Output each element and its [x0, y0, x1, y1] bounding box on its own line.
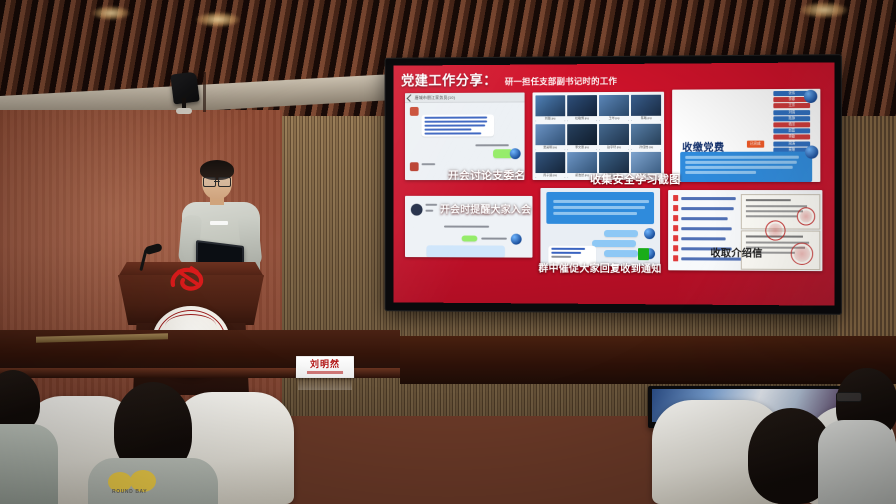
photo-thumbnail: 陈曦.jpg	[631, 95, 661, 121]
slide-panel-group-urge	[540, 188, 660, 266]
conference-room-photo: 党建工作分享： 研一担任支部副书记时的工作 唐城市朋江家务员(10) 开会讨论支…	[0, 0, 896, 504]
slide-panel-party-dues: 张伟 李娜 王芳 刘强 陈静 杨洋 赵磊 黄敏 周涛 吴琳 徐明 孙悦 收缴党费…	[672, 89, 820, 182]
presentation-slide: 党建工作分享： 研一担任支部副书记时的工作 唐城市朋江家务员(10) 开会讨论支…	[393, 62, 834, 305]
name-plate-reflection	[298, 378, 352, 390]
notice-avatar	[411, 204, 423, 216]
pdf-list-item	[673, 225, 732, 231]
ceiling-light-2	[196, 12, 240, 27]
dues-row: 刘强	[773, 110, 810, 115]
notice-meta	[481, 238, 507, 240]
dues-message-banner	[680, 152, 812, 182]
pdf-list-item	[673, 235, 725, 241]
group-bubble-3	[604, 250, 638, 257]
notice-bubble	[426, 245, 504, 257]
pdf-list-item	[673, 195, 736, 201]
dues-row: 赵磊	[773, 128, 810, 133]
pdf-list-item	[673, 215, 728, 221]
chat-meta-line	[475, 144, 508, 146]
slide-panel-chat-committee: 唐城市朋江家务员(10) 开会讨论支委名单	[405, 92, 525, 180]
slide-panel-photo-grid: 刘璐.jpg 杜敏博.jpg 王华.jpg 陈曦.jpg 吴昊明.jpg 李文豪…	[533, 92, 665, 180]
eyeglasses-icon	[203, 177, 231, 185]
slide-title-row: 党建工作分享： 研一担任支部副书记时的工作	[401, 69, 820, 90]
photo-thumbnail: 吴昊明.jpg	[535, 124, 564, 150]
pdf-file-icon	[673, 225, 678, 231]
globe-avatar-icon	[510, 148, 521, 159]
shirt-graphic	[108, 470, 164, 500]
dues-row: 黄敏	[773, 135, 810, 140]
group-bubble-1	[604, 230, 638, 237]
pdf-file-icon	[673, 215, 678, 221]
photo-thumbnail: 王华.jpg	[599, 95, 629, 121]
file-type-icon	[638, 248, 649, 260]
ceiling-light-1	[92, 6, 130, 20]
globe-avatar-icon	[804, 90, 817, 103]
notice-sender	[425, 204, 437, 206]
official-seal-icon	[797, 207, 815, 225]
chat-sender-name	[422, 163, 436, 165]
cable-conduit	[203, 72, 206, 112]
dues-status-badge: 已完成	[747, 141, 764, 148]
panel-caption-chat: 开会讨论支委名单	[448, 167, 525, 180]
photo-thumbnail: 赵宇轩.jpg	[599, 123, 629, 149]
cpc-hammer-sickle-icon	[165, 265, 209, 293]
slide-panel-intro-letters: 收取介绍信	[668, 190, 822, 271]
panel-caption-photo-grid: 收集安全学习截图	[590, 171, 681, 187]
globe-avatar-icon	[511, 234, 522, 245]
notice-sender-2	[425, 210, 433, 212]
globe-avatar-icon	[644, 228, 655, 239]
shirt-graphic-text: ROUND BAY	[112, 489, 147, 495]
chat-avatar	[410, 107, 419, 116]
official-seal-icon	[791, 243, 813, 265]
audience-member-far-right-shirt	[818, 420, 896, 504]
pdf-file-icon	[673, 235, 678, 241]
panel-caption-intro-letters: 收取介绍信	[710, 244, 762, 259]
group-bubble-2	[592, 240, 636, 247]
name-plate-underline	[307, 371, 343, 374]
audience-eyeglasses-icon	[836, 392, 862, 402]
chat-avatar-2	[410, 162, 419, 171]
pdf-file-icon	[673, 245, 678, 251]
pdf-file-icon	[673, 255, 678, 261]
slide-title: 党建工作分享：	[401, 69, 497, 89]
globe-avatar-icon-2	[805, 146, 818, 159]
notice-tag	[462, 236, 478, 242]
photo-thumbnail: 杜敏博.jpg	[567, 95, 596, 121]
pdf-list-item	[673, 205, 734, 211]
presenter-shirt-print	[210, 221, 228, 225]
audience-member-left-shirt	[0, 424, 58, 504]
speaker-bracket	[176, 108, 192, 114]
panel-caption-group-urge: 群中催促大家回复收到通知	[538, 260, 661, 276]
pdf-file-icon	[673, 205, 678, 211]
photo-thumbnail: 李文豪.jpg	[567, 124, 596, 150]
dues-row: 周涛	[773, 141, 810, 146]
photo-thumbnail: 孙佳怡.jpg	[631, 123, 661, 149]
notice-body-line	[444, 226, 489, 228]
photo-thumbnail: 刘璐.jpg	[535, 95, 564, 121]
dues-row: 杨洋	[773, 122, 810, 127]
photo-thumbnail-grid: 刘璐.jpg 杜敏博.jpg 王华.jpg 陈曦.jpg 吴昊明.jpg 李文豪…	[535, 95, 661, 177]
chat-bubble-incoming	[422, 115, 494, 137]
conference-table-right	[400, 336, 896, 384]
ceiling-light-3	[800, 2, 848, 18]
dues-row: 王芳	[773, 103, 810, 108]
photo-thumbnail: 周子涵.jpg	[535, 152, 564, 178]
official-seal-overlap-icon	[765, 220, 785, 240]
desk-name-plate: 刘明然	[296, 356, 354, 378]
panel-caption-meeting-reminder: 开会时提醒大家入会	[440, 201, 531, 216]
dues-row: 陈静	[773, 116, 810, 121]
slide-panel-meeting-reminder: 开会时提醒大家入会	[405, 196, 533, 258]
slide-subtitle: 研一担任支部副书记时的工作	[505, 75, 617, 89]
pdf-file-icon	[673, 195, 678, 201]
chat-header-title: 唐城市朋江家务员(10)	[415, 94, 456, 100]
name-plate-text: 刘明然	[310, 360, 340, 369]
